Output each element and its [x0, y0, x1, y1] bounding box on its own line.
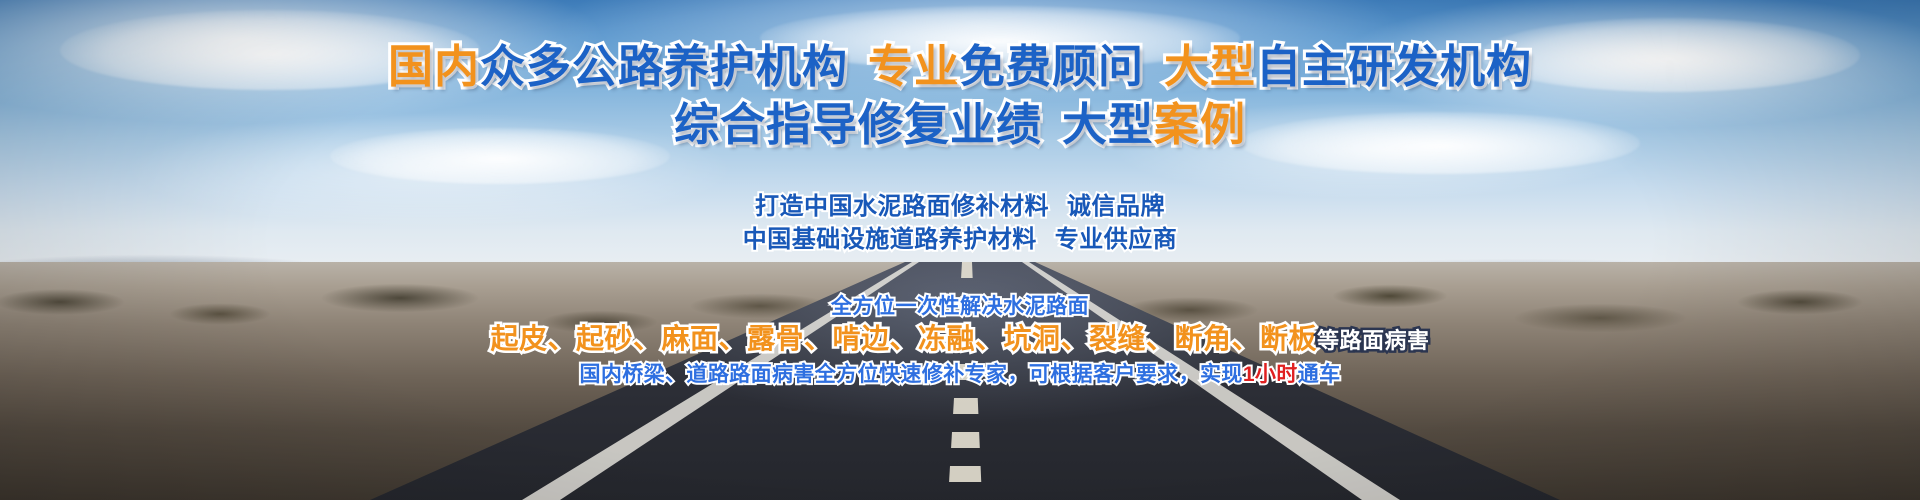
subheadline1-tail: 诚信品牌 — [1067, 193, 1165, 220]
closing-highlight-one-hour: 1小时 — [1243, 363, 1298, 386]
bottom-defect-list: 起皮、起砂、麻面、露骨、啃边、冻融、坑洞、裂缝、断角、断板等路面病害 — [0, 320, 1920, 360]
closing-text-part1: 国内桥梁、道路路面病害全方位快速修补专家，可根据客户要求，实现 — [579, 363, 1242, 386]
closing-text-part2: 通车 — [1298, 363, 1341, 386]
bottom-tagline-text: 全方位一次性解决水泥路面 — [831, 295, 1089, 318]
headline1-seg-daxing: 大型 — [1164, 41, 1256, 92]
headline2-seg-daxing: 大型 — [1062, 99, 1154, 150]
headline2-seg-anli: 案例 — [1154, 99, 1246, 150]
headline1-seg-guonei: 国内 — [388, 41, 480, 92]
headline1-seg-zhuanye: 专业 — [868, 41, 960, 92]
headline1-seg-mianfei: 免费顾问 — [960, 41, 1144, 92]
defect-list-text: 起皮、起砂、麻面、露骨、啃边、冻融、坑洞、裂缝、断角、断板 — [490, 323, 1317, 354]
subheadline-block: 打造中国水泥路面修补材料诚信品牌 中国基础设施道路养护材料专业供应商 — [0, 190, 1920, 256]
subheadline-line-1: 打造中国水泥路面修补材料诚信品牌 — [0, 190, 1920, 223]
banner-content: 国内众多公路养护机构专业免费顾问大型自主研发机构 综合指导修复业绩大型案例 打造… — [0, 0, 1920, 500]
bottom-message-block: 全方位一次性解决水泥路面 起皮、起砂、麻面、露骨、啃边、冻融、坑洞、裂缝、断角、… — [0, 293, 1920, 390]
subheadline2-tail: 专业供应商 — [1055, 226, 1178, 253]
subheadline1-main: 打造中国水泥路面修补材料 — [755, 193, 1049, 220]
defect-list-suffix: 等路面病害 — [1317, 328, 1430, 353]
bottom-closing-line: 国内桥梁、道路路面病害全方位快速修补专家，可根据客户要求，实现1小时通车 — [0, 360, 1920, 390]
headline1-seg-zizhu: 自主研发机构 — [1256, 41, 1532, 92]
subheadline2-main: 中国基础设施道路养护材料 — [743, 226, 1037, 253]
promo-banner: 国内众多公路养护机构专业免费顾问大型自主研发机构 综合指导修复业绩大型案例 打造… — [0, 0, 1920, 500]
subheadline-line-2: 中国基础设施道路养护材料专业供应商 — [0, 223, 1920, 256]
headline-line-1: 国内众多公路养护机构专业免费顾问大型自主研发机构 — [0, 42, 1920, 92]
headline1-seg-zhongduo: 众多公路养护机构 — [480, 41, 848, 92]
headline2-seg-zonghe: 综合指导修复业绩 — [674, 99, 1042, 150]
bottom-tagline: 全方位一次性解决水泥路面 — [0, 293, 1920, 320]
headline-line-2: 综合指导修复业绩大型案例 — [0, 100, 1920, 150]
